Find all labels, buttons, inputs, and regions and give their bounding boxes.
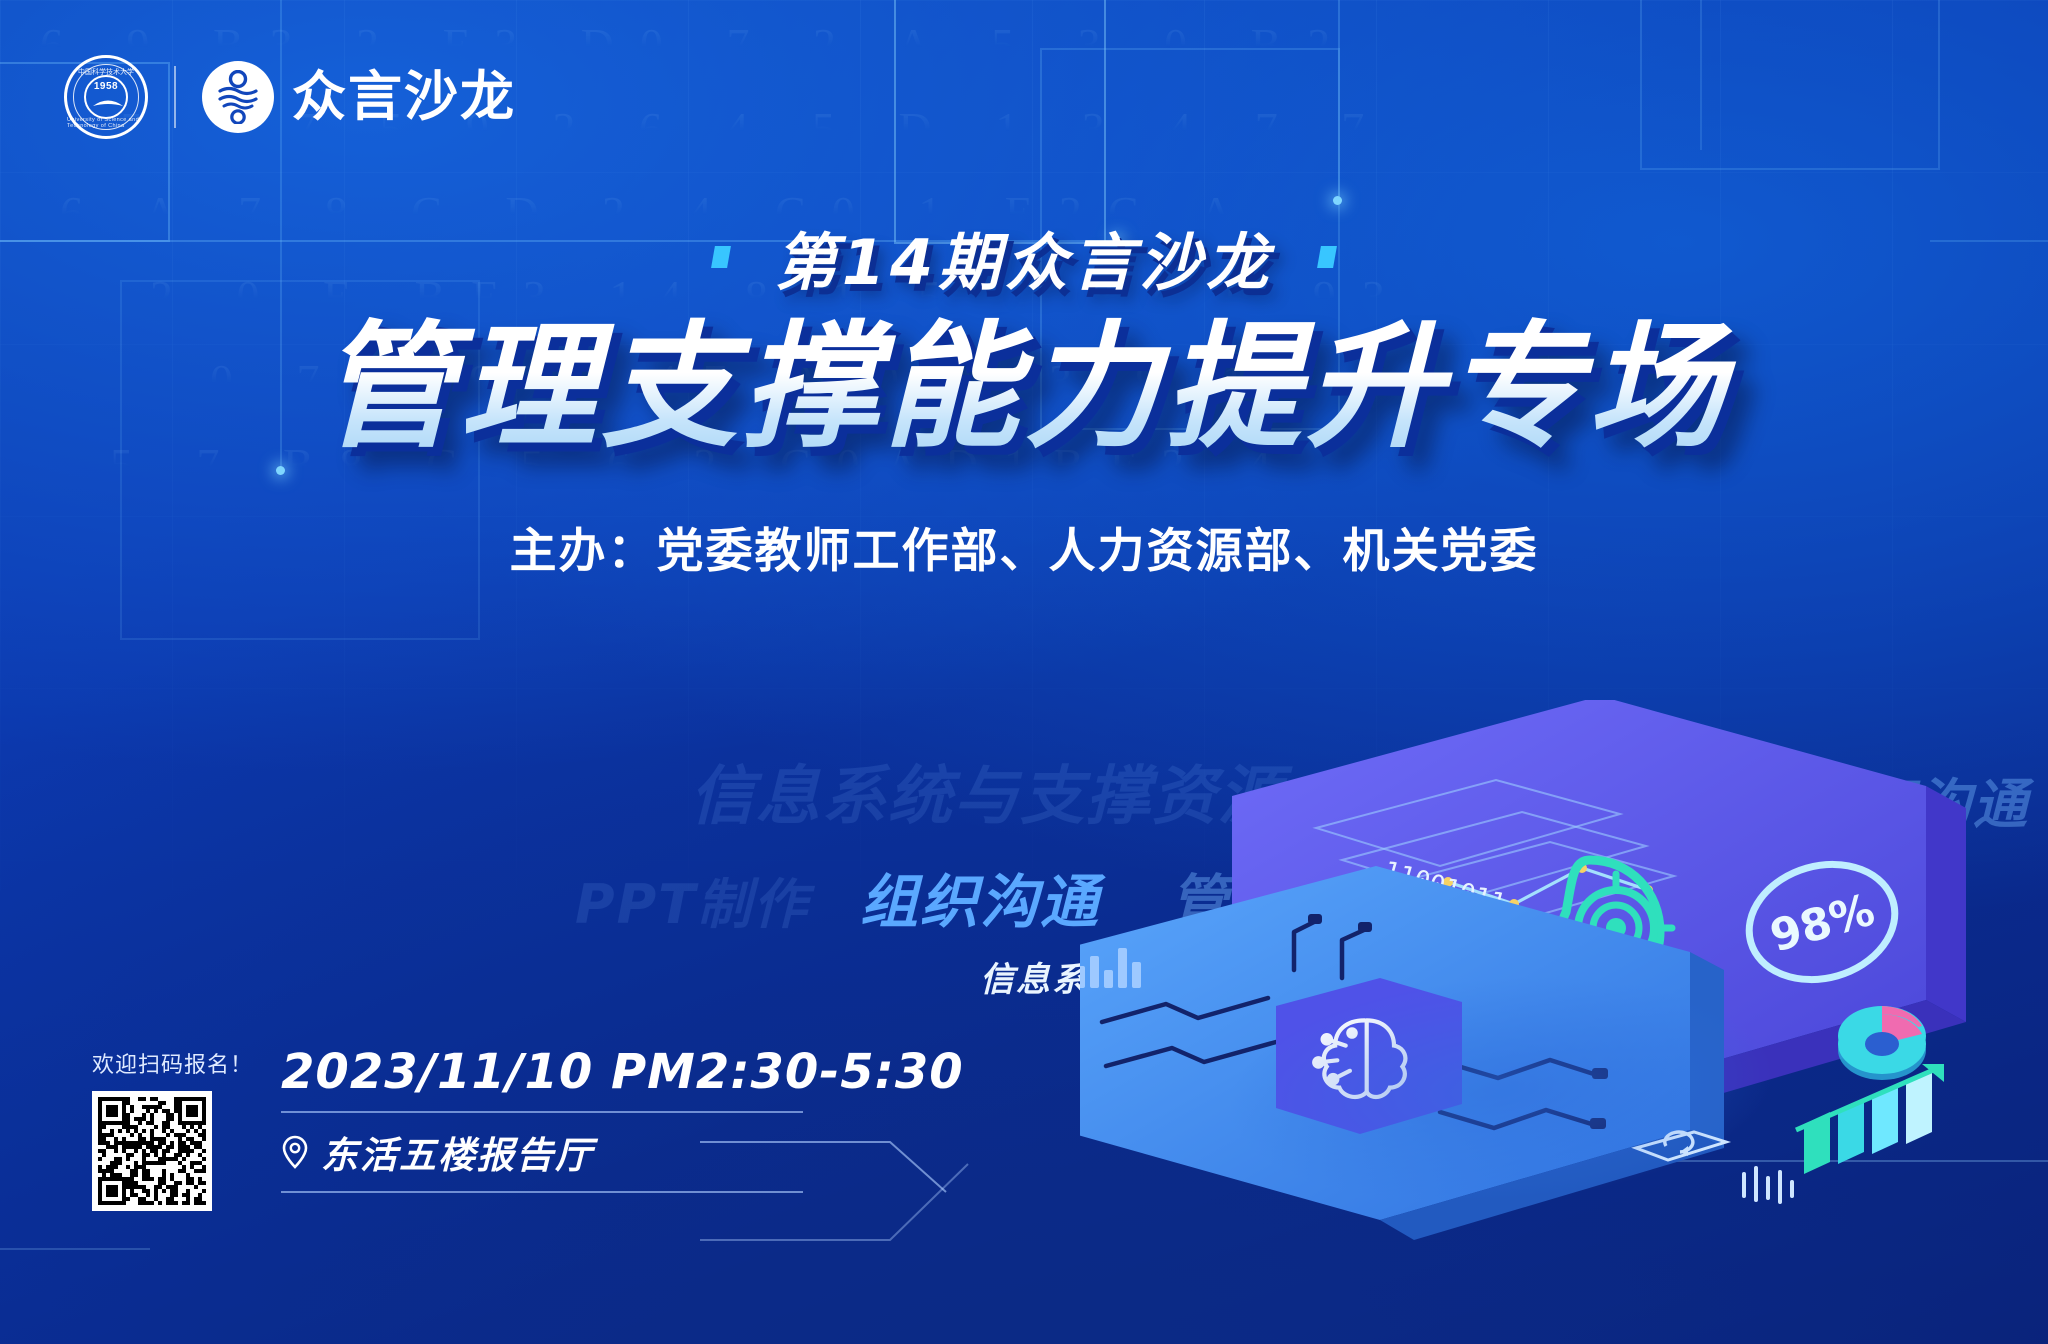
poster-canvas: 6 9 B3 2 F3 D0 7 2 A 5 3 0 B2 5 4 7 5 9 …: [0, 0, 2048, 1344]
event-venue: 东活五楼报告厅: [321, 1125, 594, 1179]
salon-logo: 众言沙龙: [202, 61, 516, 133]
diamond-accent-icon-right: [1317, 246, 1337, 268]
diamond-accent-icon-left: [711, 246, 731, 268]
keyword-tag: 组织沟通: [860, 855, 1100, 939]
keyword-tag: PPT制作: [575, 860, 809, 939]
salon-person-water-icon: [202, 61, 274, 133]
rule-top: [281, 1111, 803, 1113]
seal-year: 1958: [94, 81, 118, 92]
vertical-divider: [174, 66, 176, 128]
venue-row: 东活五楼报告厅: [281, 1125, 964, 1179]
tech-illustration: 1100101110010010001011101000010 98%: [1080, 700, 2048, 1280]
organizer-line: 主办：党委教师工作部、人力资源部、机关党委: [0, 512, 2048, 581]
event-kicker: 第14期众言沙龙: [775, 212, 1273, 302]
poster-header: 中国科学技术大学 1958 University of Science and …: [64, 55, 516, 139]
registration-info: 欢迎扫码报名！ 2023/11/10 PM2:30-5:30 东活五楼报告厅: [92, 1046, 964, 1211]
map-pin-icon: [281, 1135, 309, 1169]
seal-name-en: University of Science and Technology of …: [67, 117, 145, 129]
page-title: 管理支撑能力提升专场: [0, 312, 2048, 464]
illustration-glow: [1100, 903, 1900, 1277]
seal-core: 1958: [84, 75, 128, 119]
title-block: 第14期众言沙龙 管理支撑能力提升专场 主办：党委教师工作部、人力资源部、机关党…: [0, 212, 2048, 581]
kicker-row: 第14期众言沙龙: [0, 212, 2048, 302]
rule-bottom: [281, 1191, 803, 1193]
qr-column: 欢迎扫码报名！: [92, 1047, 253, 1211]
qr-hint-text: 欢迎扫码报名！: [92, 1047, 253, 1079]
qr-code-icon[interactable]: [92, 1091, 212, 1211]
salon-logo-text: 众言沙龙: [292, 70, 516, 124]
event-datetime: 2023/11/10 PM2:30-5:30: [281, 1046, 964, 1099]
ustc-seal-icon: 中国科学技术大学 1958 University of Science and …: [64, 55, 148, 139]
event-details: 2023/11/10 PM2:30-5:30 东活五楼报告厅: [281, 1046, 964, 1211]
